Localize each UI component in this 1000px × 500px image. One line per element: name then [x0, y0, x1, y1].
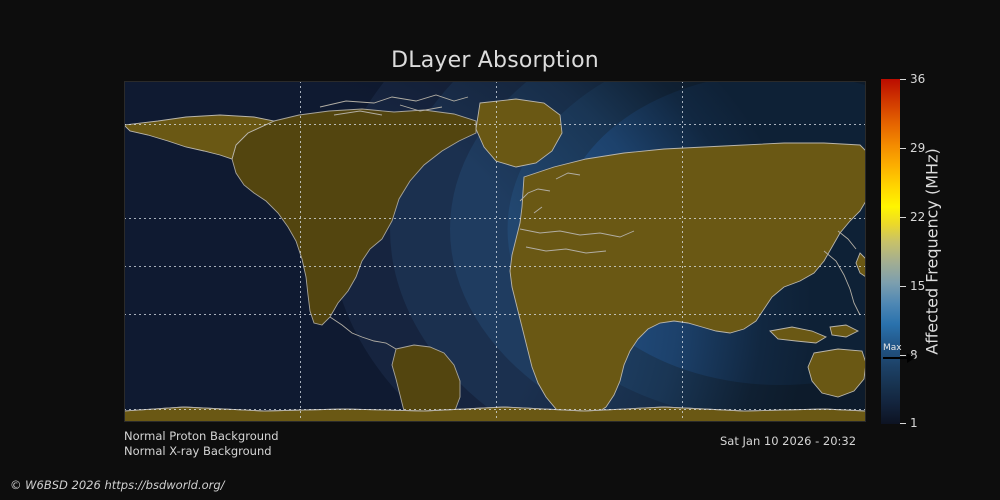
max-arrow-head-icon: [907, 353, 915, 363]
colorbar-ticklabel-1: 1: [910, 416, 918, 430]
colorbar-tick-29: [900, 148, 906, 149]
copyright-notice: © W6BSD 2026 https://bsdworld.org/: [10, 478, 225, 492]
status-xray-background: Normal X-ray Background: [124, 444, 279, 459]
land-indonesia: [770, 325, 858, 343]
colorbar-tick-22: [900, 217, 906, 218]
world-map[interactable]: [124, 81, 866, 422]
colorbar-tick-1: [900, 423, 906, 424]
status-proton-background: Normal Proton Background: [124, 429, 279, 444]
max-marker-label: Max: [883, 343, 902, 353]
timestamp: Sat Jan 10 2026 - 20:32: [720, 434, 856, 448]
page-title: DLayer Absorption: [0, 48, 990, 73]
coastline-central-america: [330, 317, 406, 357]
max-value-marker: Max: [883, 343, 923, 369]
max-arrow-shaft-icon: [883, 357, 909, 359]
colorbar[interactable]: 36 29 22 15 8 1 Max: [881, 79, 900, 424]
land-north-america: [232, 109, 476, 325]
colorbar-tick-15: [900, 286, 906, 287]
colorbar-tick-36: [900, 79, 906, 80]
colorbar-axis-label: Affected Frequency (MHz): [922, 79, 942, 424]
colorbar-axis-label-text: Affected Frequency (MHz): [923, 148, 942, 354]
coastline-layer: [124, 81, 866, 422]
status-text: Normal Proton Background Normal X-ray Ba…: [124, 429, 279, 459]
colorbar-gradient: [881, 79, 900, 424]
page-root: DLayer Absorption: [0, 0, 1000, 500]
land-japan: [856, 253, 866, 277]
land-australia: [808, 349, 866, 397]
land-greenland: [476, 99, 562, 167]
